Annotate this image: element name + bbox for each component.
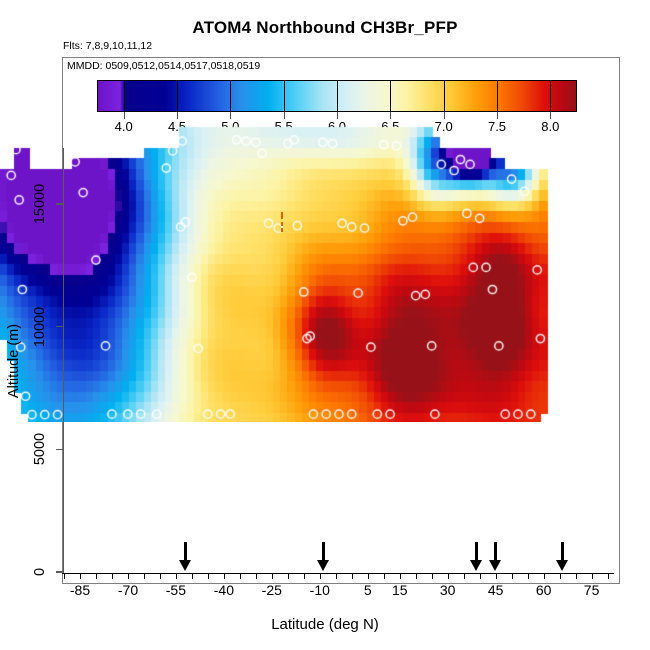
y-axis-title: Altitude (m)	[6, 324, 22, 398]
x-axis-minor-tick	[432, 573, 433, 579]
x-axis-minor-tick	[528, 573, 529, 579]
x-axis-minor-tick	[64, 573, 65, 579]
latitude-arrow	[317, 542, 330, 572]
x-axis-ticks	[0, 573, 650, 581]
x-axis-minor-tick	[352, 573, 353, 579]
heatmap-field	[0, 0, 550, 422]
x-axis-tick-labels: -85-70-55-40-25-1051530456075	[0, 582, 650, 602]
x-axis-tick-label: 15	[392, 582, 408, 598]
x-axis-tick-label: -40	[214, 582, 234, 598]
latitude-arrow	[179, 542, 192, 572]
x-axis-minor-tick	[384, 573, 385, 579]
latitude-arrow	[556, 542, 569, 572]
x-axis-tick-label: 75	[584, 582, 600, 598]
x-axis-minor-tick	[176, 573, 177, 579]
chart-root: ATOM4 Northbound CH3Br_PFP Flts: 7,8,9,1…	[0, 0, 650, 650]
y-axis-tick-label: 10000	[32, 307, 48, 347]
x-axis-tick-label: -10	[310, 582, 330, 598]
x-axis-minor-tick	[608, 573, 609, 579]
x-axis-minor-tick	[496, 573, 497, 579]
x-axis-minor-tick	[160, 573, 161, 579]
y-axis-tick-label: 15000	[32, 184, 48, 224]
x-axis-title: Latitude (deg N)	[0, 616, 650, 633]
x-axis-minor-tick	[224, 573, 225, 579]
x-axis-minor-tick	[192, 573, 193, 579]
y-axis-tick	[56, 326, 64, 327]
x-axis-minor-tick	[128, 573, 129, 579]
x-axis-minor-tick	[368, 573, 369, 579]
x-axis-minor-tick	[320, 573, 321, 579]
x-axis-tick-label: -55	[166, 582, 186, 598]
x-axis-minor-tick	[336, 573, 337, 579]
y-axis-tick	[56, 203, 64, 204]
x-axis-minor-tick	[464, 573, 465, 579]
y-axis-tick	[56, 449, 64, 450]
x-axis-tick-label: -25	[262, 582, 282, 598]
x-axis-minor-tick	[256, 573, 257, 579]
x-axis-minor-tick	[480, 573, 481, 579]
x-axis-minor-tick	[240, 573, 241, 579]
orange-dash-marker	[281, 212, 283, 232]
y-axis-line	[63, 148, 64, 574]
x-axis-minor-tick	[400, 573, 401, 579]
x-axis-minor-tick	[544, 573, 545, 579]
x-axis-minor-tick	[272, 573, 273, 579]
x-axis-minor-tick	[80, 573, 81, 579]
x-axis-minor-tick	[416, 573, 417, 579]
x-axis-minor-tick	[208, 573, 209, 579]
x-axis-minor-tick	[288, 573, 289, 579]
x-axis-minor-tick	[448, 573, 449, 579]
y-axis-tick-label: 5000	[32, 433, 48, 465]
x-axis-minor-tick	[112, 573, 113, 579]
x-axis-tick-label: 60	[536, 582, 552, 598]
x-axis-minor-tick	[304, 573, 305, 579]
x-axis-tick-label: -70	[118, 582, 138, 598]
x-axis-tick-label: 45	[488, 582, 504, 598]
x-axis-minor-tick	[560, 573, 561, 579]
x-axis-minor-tick	[592, 573, 593, 579]
x-axis-tick-label: -85	[70, 582, 90, 598]
x-axis-minor-tick	[96, 573, 97, 579]
x-axis-minor-tick	[512, 573, 513, 579]
latitude-arrow	[489, 542, 502, 572]
heatmap-canvas	[0, 0, 550, 422]
x-axis-minor-tick	[144, 573, 145, 579]
latitude-arrow	[470, 542, 483, 572]
x-axis-tick-label: 30	[440, 582, 456, 598]
x-axis-tick-label: 5	[364, 582, 372, 598]
x-axis-minor-tick	[576, 573, 577, 579]
